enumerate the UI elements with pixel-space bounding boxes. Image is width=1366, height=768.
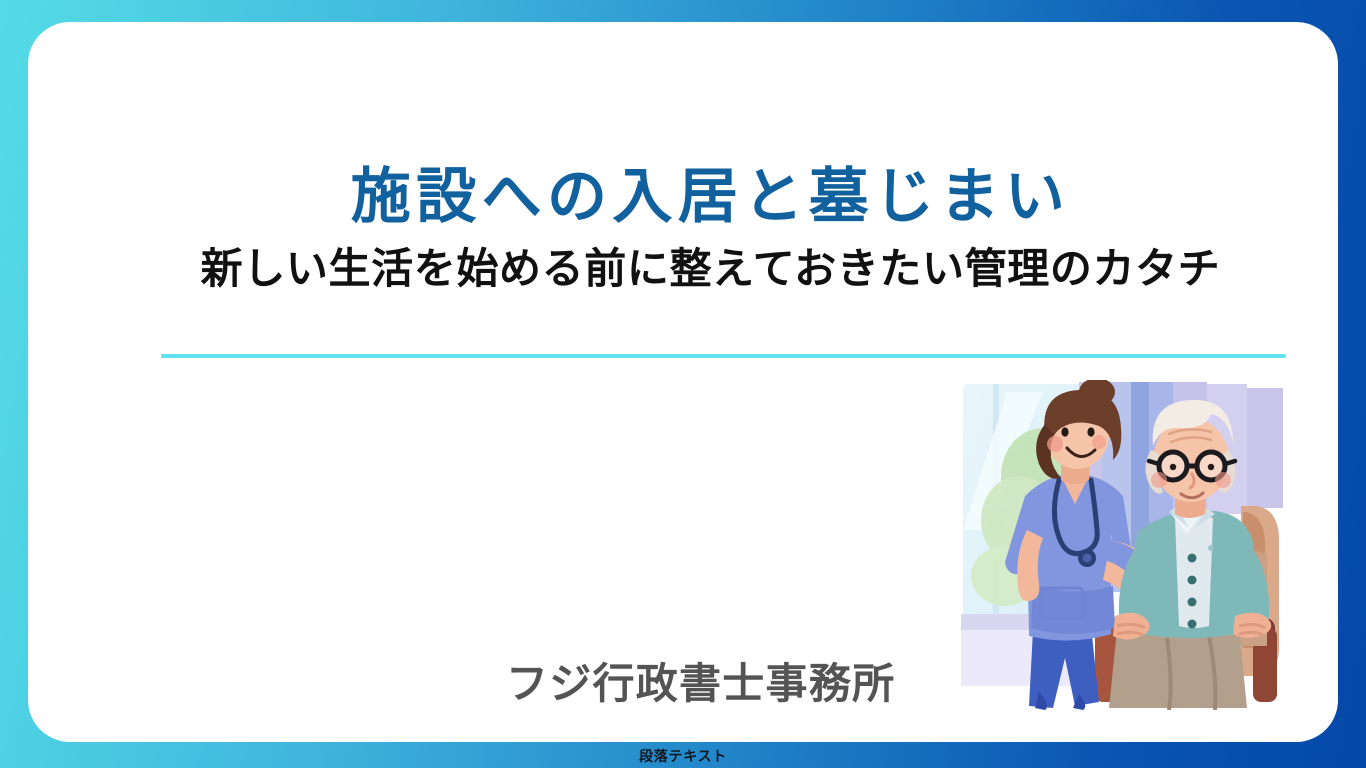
firm-name: フジ行政書士事務所 xyxy=(506,650,895,711)
slide-white-card: 施設への入居と墓じまい 新しい生活を始める前に整えておきたい管理のカタチ フジ行… xyxy=(28,22,1338,742)
page-title: 施設への入居と墓じまい xyxy=(133,162,1288,233)
slide-canvas: 施設への入居と墓じまい 新しい生活を始める前に整えておきたい管理のカタチ フジ行… xyxy=(0,0,1366,768)
page-subtitle: 新しい生活を始める前に整えておきたい管理のカタチ xyxy=(133,243,1288,294)
title-divider xyxy=(161,354,1286,358)
footer-caption: 段落テキスト xyxy=(0,746,1366,766)
caregiver-and-elderly-man-illustration xyxy=(961,380,1283,710)
title-block: 施設への入居と墓じまい 新しい生活を始める前に整えておきたい管理のカタチ xyxy=(133,162,1288,294)
